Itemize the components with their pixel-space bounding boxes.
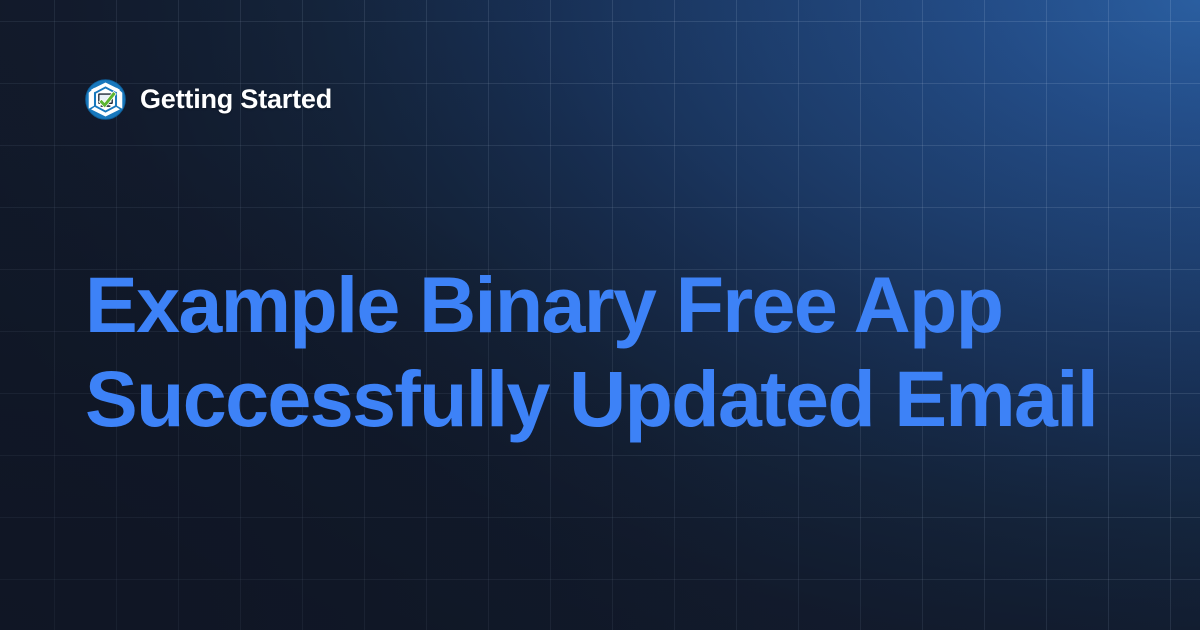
card-content: Getting Started Example Binary Free App … bbox=[0, 0, 1200, 630]
page-title: Example Binary Free App Successfully Upd… bbox=[85, 258, 1120, 446]
shield-aperture-monitor-check-icon bbox=[85, 79, 126, 120]
brand-name: Getting Started bbox=[140, 86, 332, 113]
brand-row: Getting Started bbox=[85, 79, 332, 120]
og-card: Getting Started Example Binary Free App … bbox=[0, 0, 1200, 630]
